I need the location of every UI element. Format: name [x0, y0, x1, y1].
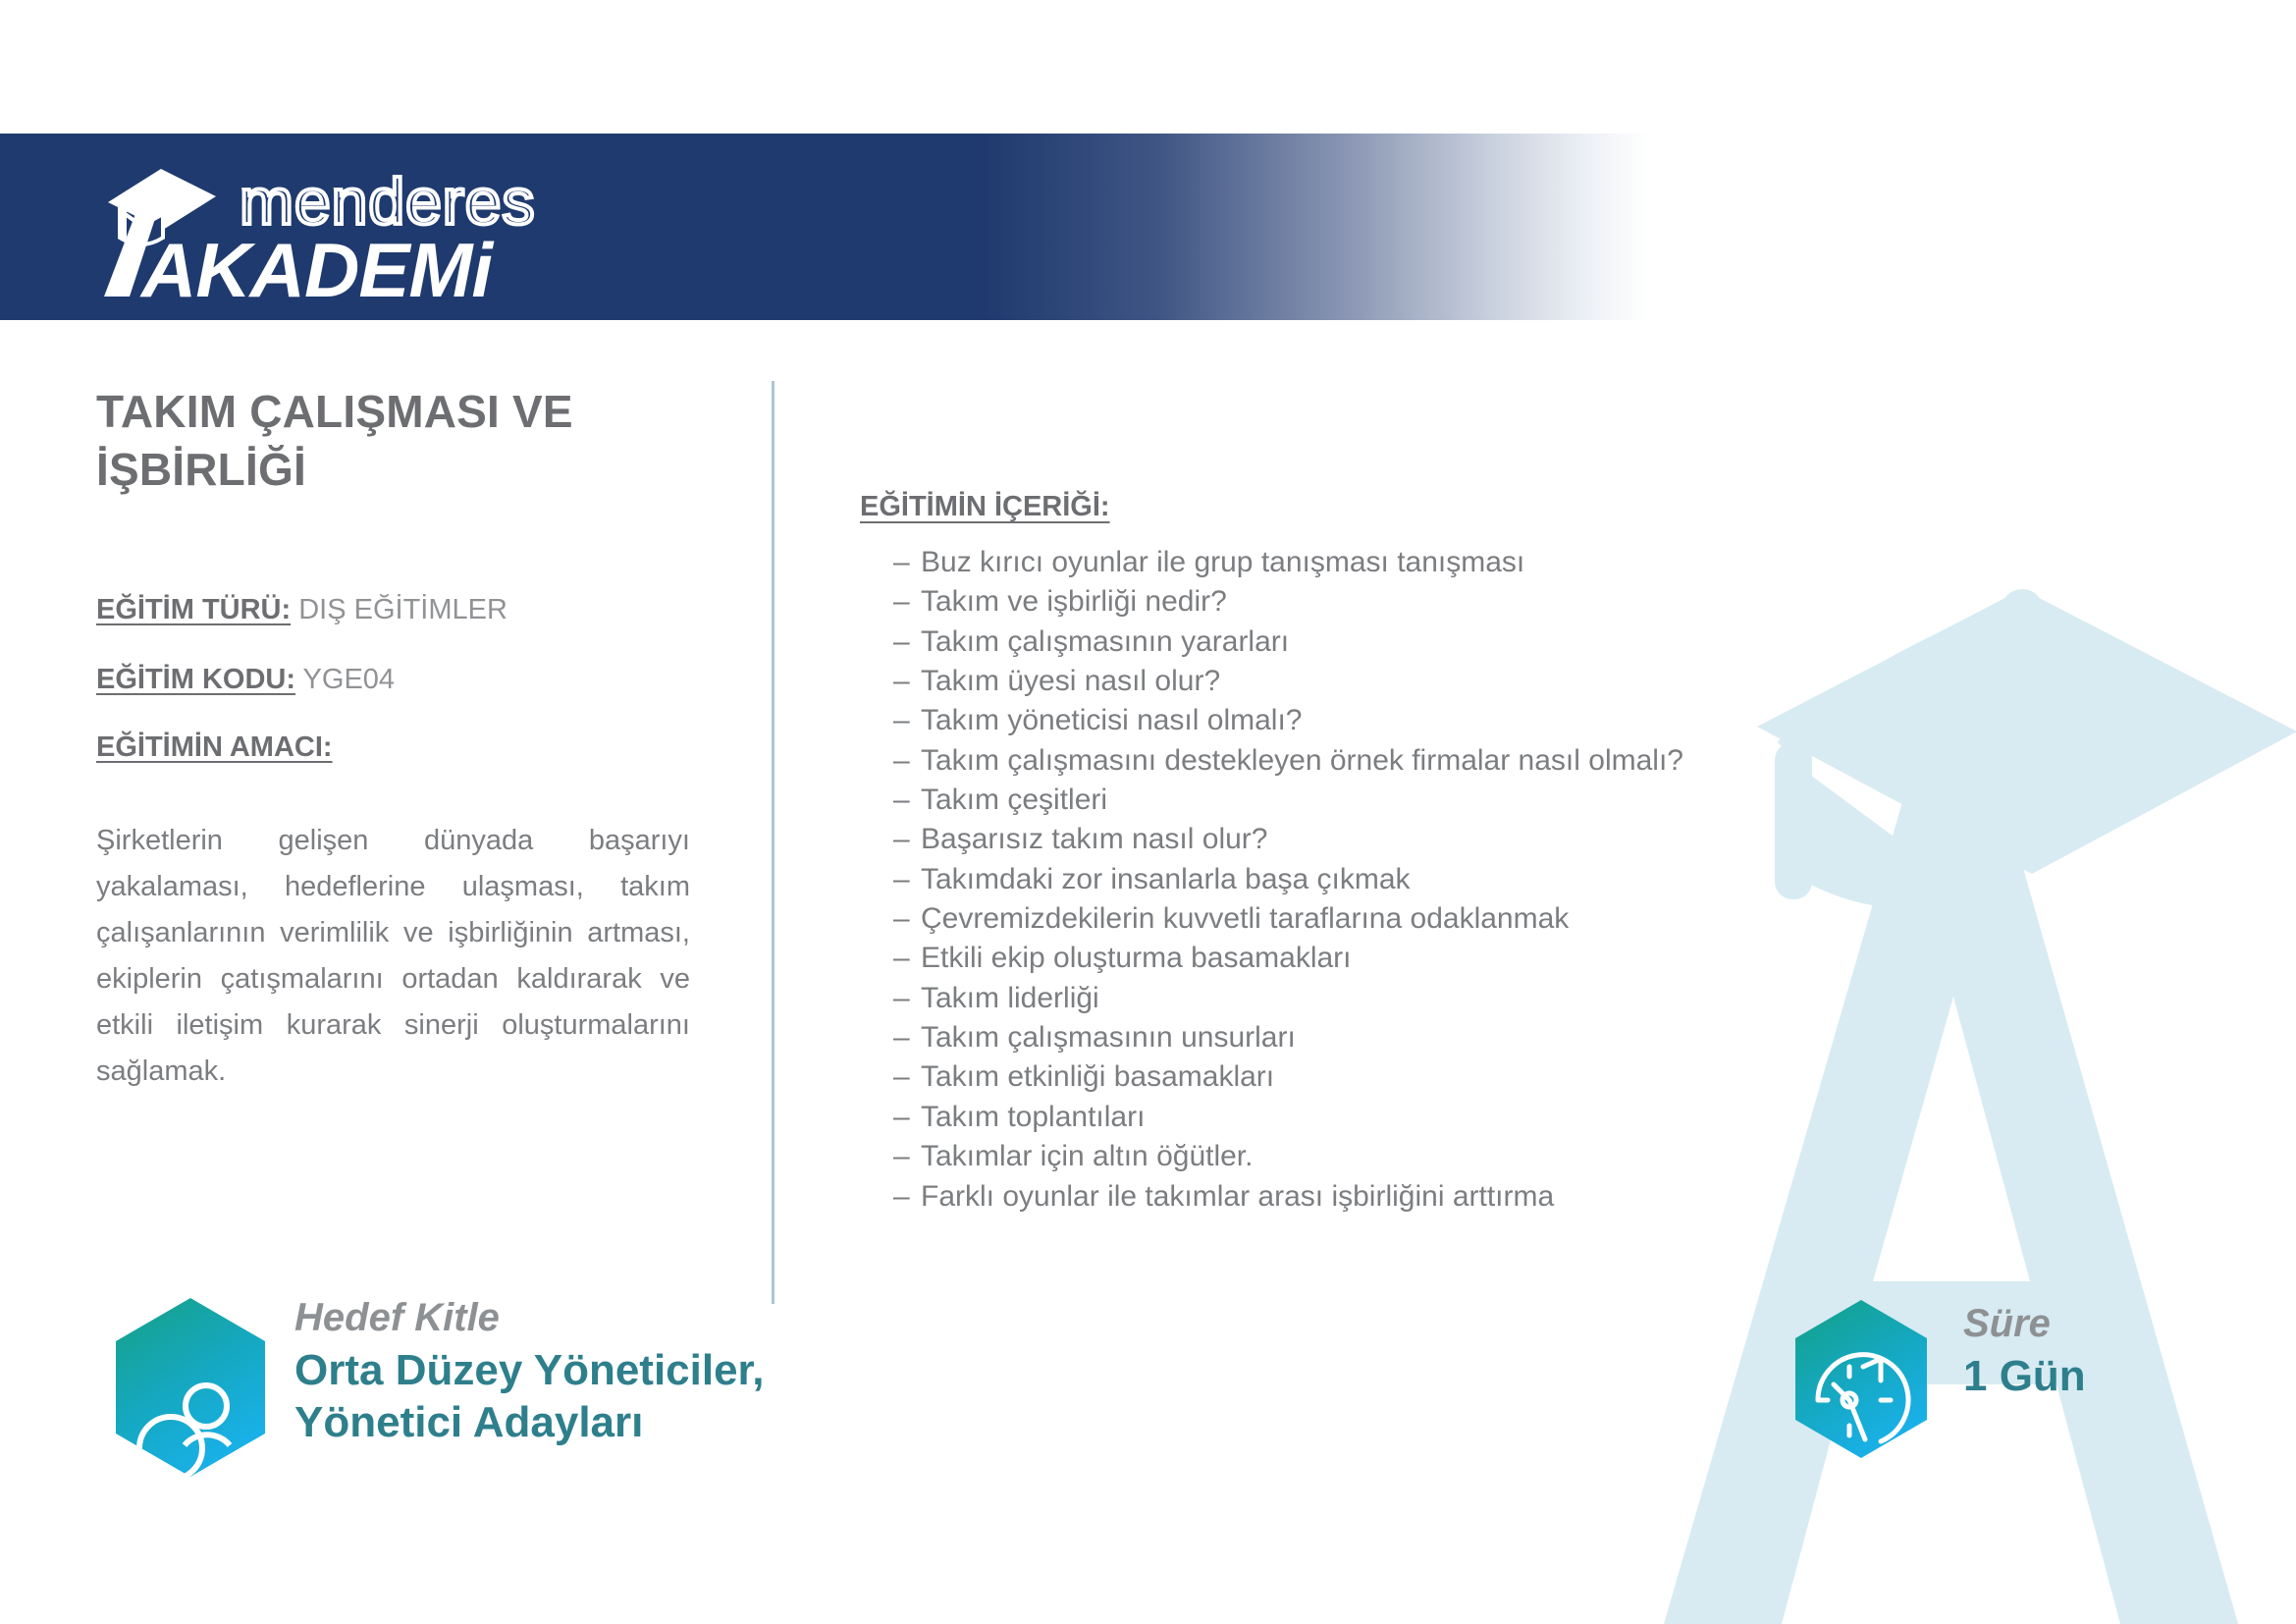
- audience-badge: Hedef Kitle Orta Düzey Yöneticiler, Yöne…: [108, 1296, 764, 1479]
- bullet-dash-icon: –: [893, 701, 910, 740]
- content-list-item: –Takım üyesi nasıl olur?: [893, 662, 2136, 701]
- content-list-item-label: Çevremizdekilerin kuvvetli taraflarına o…: [921, 902, 1569, 935]
- bullet-dash-icon: –: [893, 860, 910, 899]
- content-list-item: –Takım toplantıları: [893, 1098, 2136, 1137]
- content-list-item-label: Takım ve işbirliği nedir?: [921, 585, 1227, 618]
- content-list-item: –Takım çalışmasının unsurları: [893, 1018, 2136, 1057]
- content-list-item-label: Buz kırıcı oyunlar ile grup tanışması ta…: [921, 546, 1524, 578]
- training-aim-block: EĞİTİMİN AMACI: Şirketlerin gelişen düny…: [96, 731, 724, 1095]
- duration-text: Süre 1 Gün: [1963, 1302, 2086, 1402]
- content-list-item: –Takım yöneticisi nasıl olmalı?: [893, 701, 2136, 740]
- bullet-dash-icon: –: [893, 1098, 910, 1137]
- content-list-item-label: Takımdaki zor insanlarla başa çıkmak: [921, 863, 1411, 895]
- bullet-dash-icon: –: [893, 1177, 910, 1217]
- content-list-item: –Etkili ekip oluşturma basamakları: [893, 939, 2136, 978]
- training-type-row: EĞİTİM TÜRÜ: DIŞ EĞİTİMLER: [96, 593, 724, 627]
- bullet-dash-icon: –: [893, 543, 910, 582]
- bullet-dash-icon: –: [893, 582, 910, 622]
- bullet-dash-icon: –: [893, 899, 910, 939]
- content-list-item-label: Takım üyesi nasıl olur?: [921, 665, 1220, 697]
- bullet-dash-icon: –: [893, 741, 910, 781]
- bullet-dash-icon: –: [893, 1018, 910, 1057]
- menderes-akademi-logo: menderes AKADEMi: [90, 147, 640, 314]
- bullet-dash-icon: –: [893, 820, 910, 859]
- bullet-dash-icon: –: [893, 781, 910, 820]
- bullet-dash-icon: –: [893, 939, 910, 978]
- bullet-dash-icon: –: [893, 623, 910, 662]
- course-info-column: TAKIM ÇALIŞMASI VE İŞBİRLİĞİ EĞİTİM TÜRÜ…: [96, 383, 724, 1123]
- bullet-dash-icon: –: [893, 1137, 910, 1176]
- training-code-label: EĞİTİM KODU:: [96, 664, 295, 695]
- content-list-item-label: Takım toplantıları: [921, 1101, 1145, 1133]
- clock-hexagon-icon: [1789, 1298, 1934, 1460]
- training-aim-label: EĞİTİMİN AMACI:: [96, 731, 333, 764]
- content-list-item-label: Başarısız takım nasıl olur?: [921, 823, 1267, 855]
- content-list-item-label: Takım çalışmasının unsurları: [921, 1021, 1296, 1054]
- audience-value-line2: Yönetici Adayları: [294, 1396, 764, 1449]
- content-list-item-label: Takım liderliği: [921, 982, 1099, 1014]
- content-list-item: –Farklı oyunlar ile takımlar arası işbir…: [893, 1177, 2136, 1217]
- page-title: TAKIM ÇALIŞMASI VE İŞBİRLİĞİ: [96, 383, 646, 499]
- content-list-item: –Takım etkinliği basamakları: [893, 1057, 2136, 1097]
- content-list-item-label: Takım çalışmasının yararları: [921, 625, 1289, 658]
- content-list-item: –Çevremizdekilerin kuvvetli taraflarına …: [893, 899, 2136, 939]
- audience-value-line1: Orta Düzey Yöneticiler,: [294, 1344, 764, 1397]
- people-hexagon-icon: [108, 1296, 273, 1479]
- training-type-label: EĞİTİM TÜRÜ:: [96, 594, 291, 625]
- content-heading: EĞİTİMİN İÇERİĞİ:: [860, 491, 1110, 523]
- content-list-item-label: Takım etkinliği basamakları: [921, 1060, 1274, 1093]
- duration-badge: Süre 1 Gün: [1789, 1298, 2086, 1460]
- content-list-item-label: Takımlar için altın öğütler.: [921, 1140, 1253, 1172]
- content-list-item: –Takım ve işbirliği nedir?: [893, 582, 2136, 622]
- bullet-dash-icon: –: [893, 1057, 910, 1097]
- training-aim-text: Şirketlerin gelişen dünyada başarıyı yak…: [96, 818, 690, 1095]
- duration-value: 1 Gün: [1963, 1350, 2086, 1403]
- content-list-item-label: Takım yöneticisi nasıl olmalı?: [921, 704, 1302, 736]
- content-list-item-label: Etkili ekip oluşturma basamakları: [921, 942, 1352, 974]
- content-list-item-label: Takım çalışmasını destekleyen örnek firm…: [921, 744, 1683, 777]
- content-list-item: –Başarısız takım nasıl olur?: [893, 820, 2136, 859]
- audience-label: Hedef Kitle: [294, 1296, 764, 1340]
- training-code-value: YGE04: [303, 664, 396, 695]
- training-type-value: DIŞ EĞİTİMLER: [298, 594, 507, 625]
- content-list-item: –Takım çalışmasını destekleyen örnek fir…: [893, 741, 2136, 781]
- content-list-item: –Buz kırıcı oyunlar ile grup tanışması t…: [893, 543, 2136, 582]
- course-content-column: EĞİTİMİN İÇERİĞİ: –Buz kırıcı oyunlar il…: [860, 491, 2136, 1217]
- logo-word-akademi: AKADEMi: [139, 227, 494, 313]
- content-list-item-label: Farklı oyunlar ile takımlar arası işbirl…: [921, 1180, 1554, 1213]
- training-code-row: EĞİTİM KODU: YGE04: [96, 663, 724, 697]
- bullet-dash-icon: –: [893, 979, 910, 1018]
- content-list-item: –Takımdaki zor insanlarla başa çıkmak: [893, 860, 2136, 899]
- bullet-dash-icon: –: [893, 662, 910, 701]
- content-list-item: –Takım çalışmasının yararları: [893, 623, 2136, 662]
- content-list-item-label: Takım çeşitleri: [921, 784, 1107, 816]
- content-list-item: –Takım liderliği: [893, 979, 2136, 1018]
- content-list-item: –Takımlar için altın öğütler.: [893, 1137, 2136, 1176]
- audience-text: Hedef Kitle Orta Düzey Yöneticiler, Yöne…: [294, 1296, 764, 1449]
- column-divider: [772, 381, 774, 1304]
- content-list: –Buz kırıcı oyunlar ile grup tanışması t…: [860, 543, 2136, 1217]
- duration-label: Süre: [1963, 1302, 2086, 1346]
- content-list-item: –Takım çeşitleri: [893, 781, 2136, 820]
